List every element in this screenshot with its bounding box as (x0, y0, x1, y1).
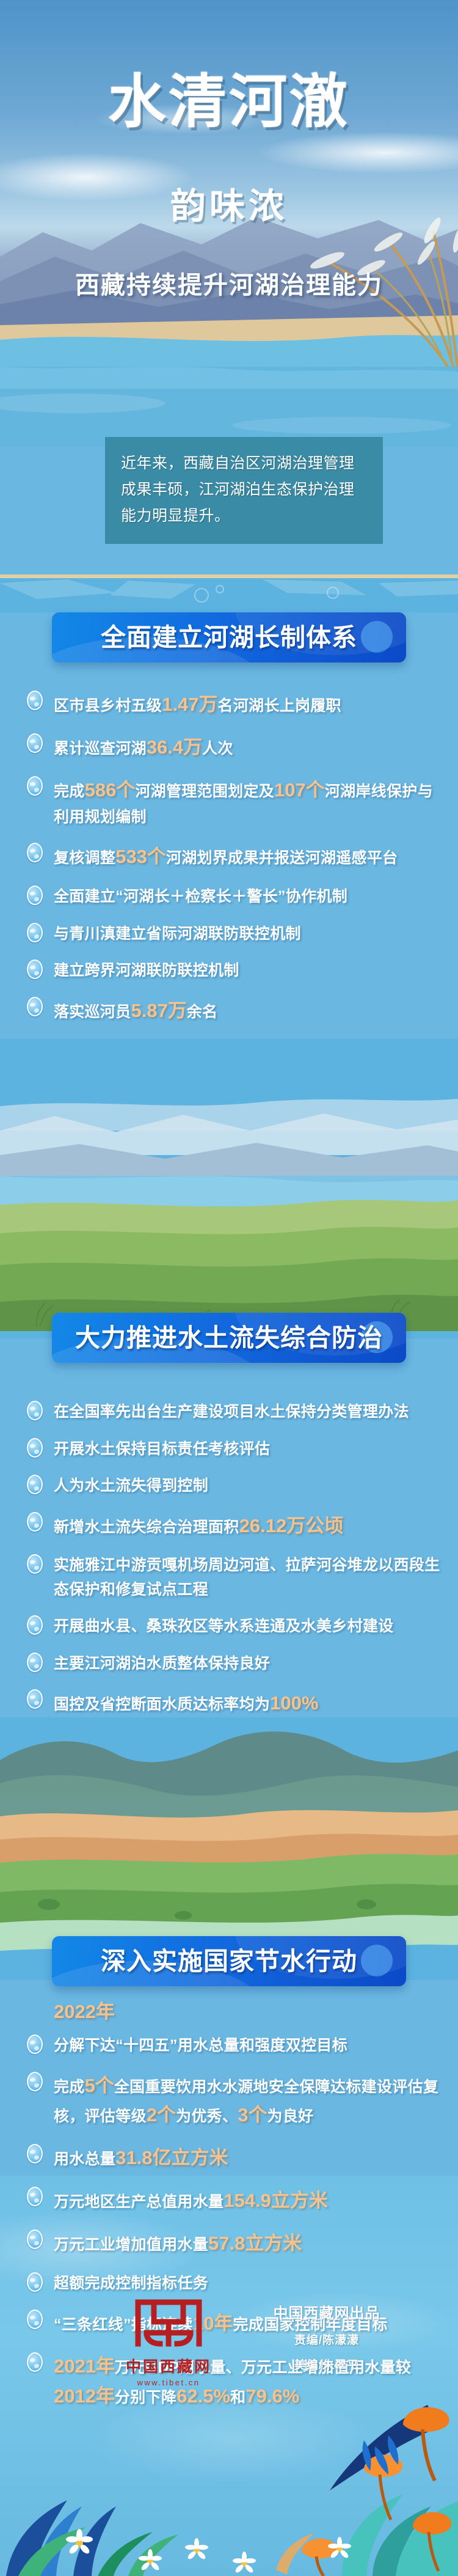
list-item-text: 万元地区生产总值用水量154.9立方米 (54, 2185, 446, 2216)
list-item: 人为水土流失得到控制 (24, 1473, 446, 1499)
list-item-text: 超额完成控制指标任务 (54, 2271, 446, 2296)
list-item: 国控及省控断面水质达标率均为100% (24, 1688, 446, 1719)
list-item: 建立跨界河湖联防联控机制 (24, 958, 446, 983)
list-item: 复核调整533个河湖划界成果并报送河湖遥感平台 (24, 842, 446, 872)
designer-credit: 美编/朱翠平 (250, 2356, 403, 2372)
list-item: 与青川滇建立省际河湖联防联控机制 (24, 922, 446, 947)
globe-icon (24, 1688, 45, 1712)
globe-icon (24, 842, 45, 866)
list-item: 万元工业增加值用水量57.8立方米 (24, 2228, 446, 2259)
list-item: 主要江河湖泊水质整体保持良好 (24, 1651, 446, 1676)
list-item-text: 国控及省控断面水质达标率均为100% (54, 1688, 446, 1719)
globe-icon (24, 2143, 45, 2167)
site-logo: 中国西藏网 www.tibet.cn (120, 2295, 217, 2387)
globe-icon (24, 1473, 45, 1498)
globe-icon (24, 2271, 45, 2295)
water-transition-top (0, 367, 458, 446)
produced-by: 中国西藏网出品 (250, 2301, 403, 2322)
tibet-net-logo-icon (132, 2295, 205, 2351)
editor-credit: 责编/陈濛濛 (250, 2331, 403, 2347)
list-item-text: 人为水土流失得到控制 (54, 1473, 446, 1499)
footer-decoration (0, 2368, 458, 2576)
list-item-text: 万元工业增加值用水量57.8立方米 (54, 2228, 446, 2259)
list-item: 累计巡查河湖36.4万人次 (24, 732, 446, 763)
list-item: 用水总量31.8亿立方米 (24, 2143, 446, 2173)
section-header-3: 深入实施国家节水行动 (52, 1936, 406, 1986)
list-item-text: 全面建立“河湖长＋检察长＋警长”协作机制 (54, 884, 446, 909)
list-item-text: 分解下达“十四五”用水总量和强度双控目标 (54, 2033, 446, 2058)
globe-icon (24, 1614, 45, 1638)
list-item: 在全国率先出台生产建设项目水土保持分类管理办法 (24, 1400, 446, 1425)
infographic-poster: 水清河澈 韵味浓 西藏持续提升河湖治理能力 近年来，西藏自治区河湖治理管理成果丰… (0, 0, 458, 2576)
list-item: 落实巡河员5.87万余名 (24, 996, 446, 1026)
list-item: 区市县乡村五级1.47万名河湖长上岗履职 (24, 689, 446, 720)
globe-icon (24, 1400, 45, 1424)
globe-icon (24, 922, 45, 946)
credits-block: 中国西藏网出品 责编/陈濛濛 美编/朱翠平 (250, 2301, 403, 2372)
section-title: 大力推进水土流失综合防治 (52, 1313, 406, 1363)
list-item-text: 实施雅江中游贡嘎机场周边河道、拉萨河谷堆龙以西段生态保护和修复试点工程 (54, 1553, 446, 1602)
list-item-text: 用水总量31.8亿立方米 (54, 2143, 446, 2173)
list-item-text: 区市县乡村五级1.47万名河湖长上岗履职 (54, 689, 446, 720)
section-header-1: 全面建立河湖长制体系 (52, 612, 406, 662)
list-item-text: 新增水土流失综合治理面积26.12万公顷 (54, 1511, 446, 1541)
section-title: 深入实施国家节水行动 (52, 1936, 406, 1986)
section-title: 全面建立河湖长制体系 (52, 612, 406, 662)
globe-icon (24, 996, 45, 1020)
globe-icon (24, 1511, 45, 1535)
list-item: 实施雅江中游贡嘎机场周边河道、拉萨河谷堆龙以西段生态保护和修复试点工程 (24, 1553, 446, 1602)
list-item: 万元地区生产总值用水量154.9立方米 (24, 2185, 446, 2216)
globe-icon (24, 2185, 45, 2210)
bullet-list-1: 区市县乡村五级1.47万名河湖长上岗履职 累计巡查河湖36.4万人次 完成586… (24, 689, 446, 1075)
list-item: 完成5个全国重要饮用水水源地安全保障达标建设评估复核，评估等级2个为优秀、3个为… (24, 2071, 446, 2131)
globe-icon (24, 1437, 45, 1461)
list-item: 超额完成控制指标任务 (24, 2271, 446, 2296)
list-item-text: 落实巡河员5.87万余名 (54, 996, 446, 1026)
scene-divider-ripple (0, 574, 458, 612)
globe-icon (24, 689, 45, 714)
list-item: 全面建立“河湖长＋检察长＋警长”协作机制 (24, 884, 446, 909)
globe-icon (24, 1553, 45, 1577)
globe-icon (24, 884, 45, 909)
poster-sub-title: 韵味浓 (0, 177, 458, 229)
list-item-text: 建立跨界河湖联防联控机制 (54, 958, 446, 983)
poster-main-title: 水清河澈 (0, 72, 458, 133)
list-item-text: 在全国率先出台生产建设项目水土保持分类管理办法 (54, 1400, 446, 1425)
list-item-text: 主要江河湖泊水质整体保持良好 (54, 1651, 446, 1676)
globe-icon (24, 1651, 45, 1676)
list-item: 开展曲水县、桑珠孜区等水系连通及水美乡村建设 (24, 1614, 446, 1639)
globe-icon (24, 2228, 45, 2253)
list-item: 完成586个河湖管理范围划定及107个河湖岸线保护与利用规划编制 (24, 775, 446, 829)
logo-url: www.tibet.cn (120, 2378, 217, 2387)
section-header-2: 大力推进水土流失综合防治 (52, 1313, 406, 1363)
list-item: 开展水土保持目标责任考核评估 (24, 1437, 446, 1462)
globe-icon (24, 2308, 45, 2333)
list-item-text: 完成5个全国重要饮用水水源地安全保障达标建设评估复核，评估等级2个为优秀、3个为… (54, 2071, 446, 2131)
globe-icon (24, 775, 45, 799)
list-item-text: 完成586个河湖管理范围划定及107个河湖岸线保护与利用规划编制 (54, 775, 446, 829)
globe-icon (24, 958, 45, 983)
list-item-text: 累计巡查河湖36.4万人次 (54, 732, 446, 763)
bullet-list-2: 在全国率先出台生产建设项目水土保持分类管理办法 开展水土保持目标责任考核评估 人… (24, 1400, 446, 1731)
logo-caption: 中国西藏网 (120, 2355, 217, 2377)
hero-banner: 水清河澈 韵味浓 西藏持续提升河湖治理能力 (0, 0, 458, 367)
poster-tagline: 西藏持续提升河湖治理能力 (0, 265, 458, 301)
globe-icon (24, 2071, 45, 2095)
intro-panel: 近年来，西藏自治区河湖治理管理成果丰硕，江河湖泊生态保护治理能力明显提升。 (105, 437, 383, 544)
list-item-text: 开展曲水县、桑珠孜区等水系连通及水美乡村建设 (54, 1614, 446, 1639)
list-item-text: 开展水土保持目标责任考核评估 (54, 1437, 446, 1462)
intro-text: 近年来，西藏自治区河湖治理管理成果丰硕，江河湖泊生态保护治理能力明显提升。 (121, 455, 355, 524)
year-label: 2022年 (54, 1996, 446, 2024)
globe-icon (24, 2033, 45, 2058)
list-item: 新增水土流失综合治理面积26.12万公顷 (24, 1511, 446, 1541)
scene-lake-grassland (0, 1039, 458, 1338)
list-item-text: 与青川滇建立省际河湖联防联控机制 (54, 922, 446, 947)
globe-icon (24, 732, 45, 757)
list-item: 分解下达“十四五”用水总量和强度双控目标 (24, 2033, 446, 2058)
list-item-text: 复核调整533个河湖划界成果并报送河湖遥感平台 (54, 842, 446, 872)
